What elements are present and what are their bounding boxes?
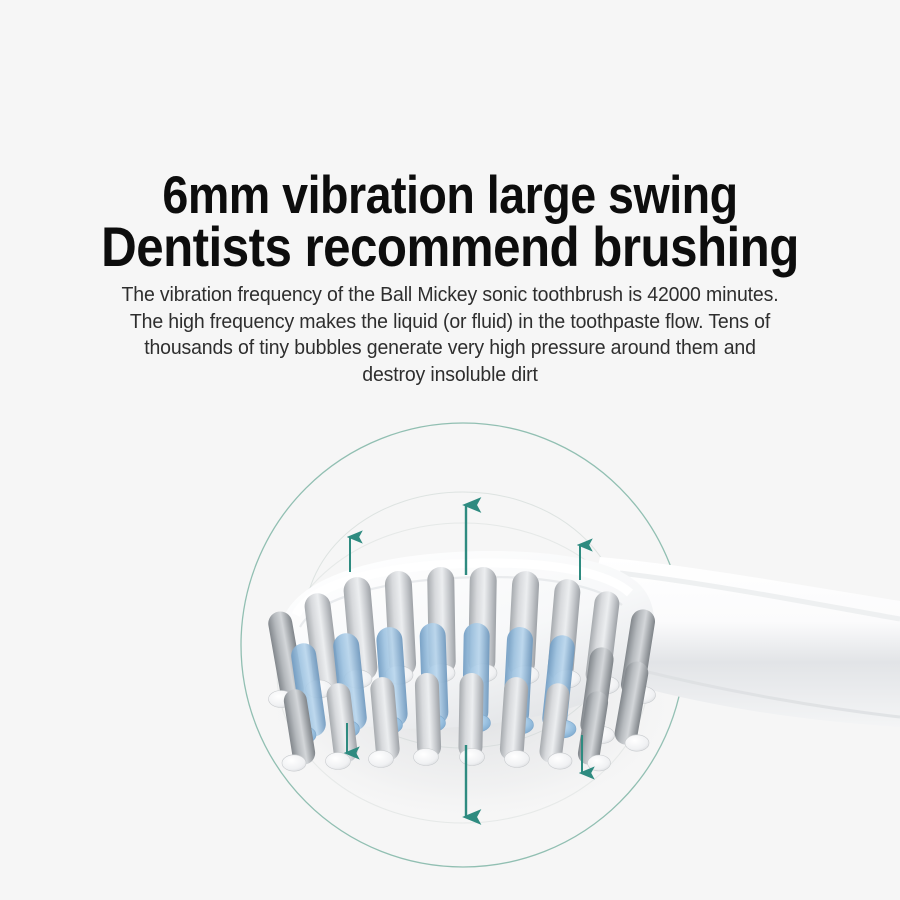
body-paragraph: The vibration frequency of the Ball Mick… (23, 282, 878, 388)
body-line-3: thousands of tiny bubbles generate very … (23, 335, 878, 362)
product-feature-page: 6mm vibration large swing Dentists recom… (0, 0, 900, 900)
toothbrush-illustration (0, 405, 900, 900)
body-line-1: The vibration frequency of the Ball Mick… (23, 282, 878, 309)
headline-line-2: Dentists recommend brushing (54, 219, 846, 275)
body-line-2: The high frequency makes the liquid (or … (23, 309, 878, 336)
body-line-4: destroy insoluble dirt (23, 362, 878, 389)
